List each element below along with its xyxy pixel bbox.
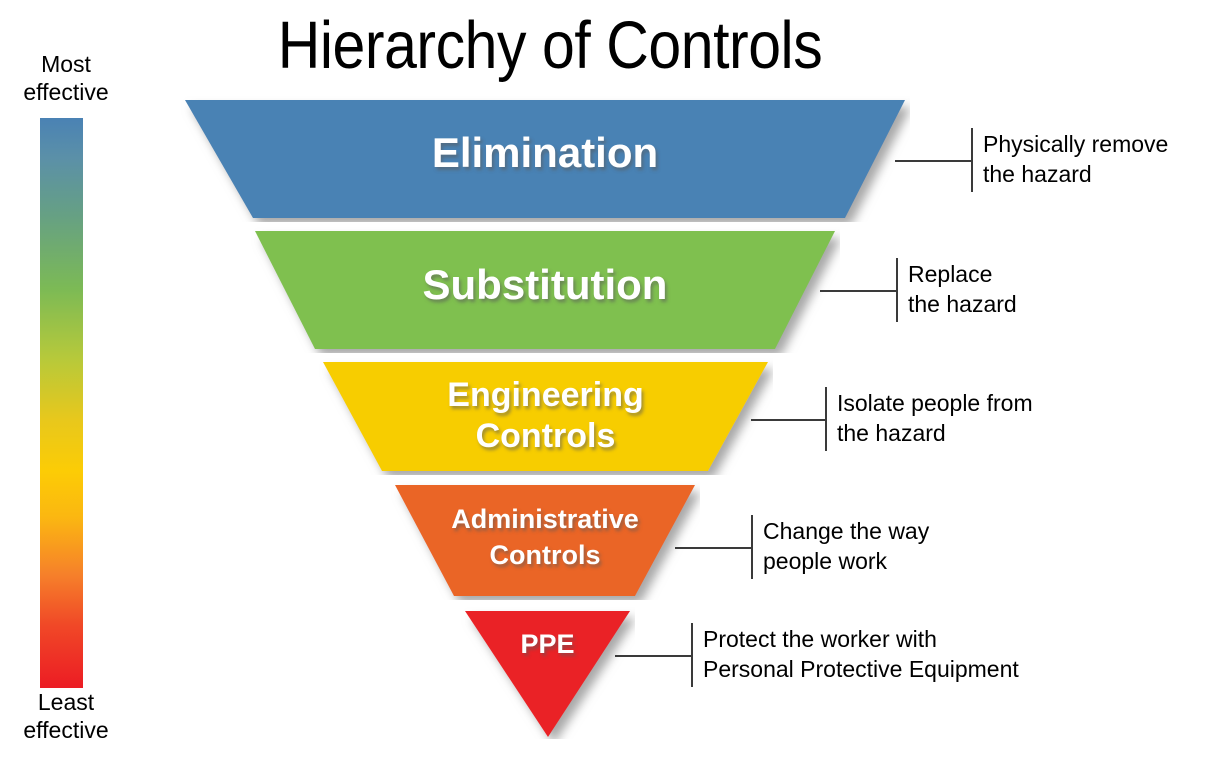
callout-text-engineering-controls-line2: the hazard <box>837 418 1033 448</box>
callout-tick-substitution <box>896 258 898 322</box>
callout-text-engineering-controls: Isolate people from the hazard <box>837 388 1033 448</box>
callout-leader-line-engineering-controls <box>751 419 827 421</box>
callout-leader-line-ppe <box>615 655 693 657</box>
callout-text-engineering-controls-line1: Isolate people from <box>837 388 1033 418</box>
callout-text-elimination: Physically remove the hazard <box>983 129 1168 189</box>
callout-text-substitution-line1: Replace <box>908 259 1017 289</box>
callout-text-administrative-controls-line1: Change the way <box>763 516 929 546</box>
callout-leader-line-substitution <box>820 290 898 292</box>
callout-text-ppe-line2: Personal Protective Equipment <box>703 654 1019 684</box>
elimination-trapezoid-shape <box>180 96 910 222</box>
callout-text-substitution-line2: the hazard <box>908 289 1017 319</box>
callout-tick-elimination <box>971 128 973 192</box>
callout-leader-line-elimination <box>895 160 973 162</box>
engineering-controls-trapezoid-shape <box>318 358 773 475</box>
funnel-level-elimination[interactable]: Elimination <box>180 96 910 222</box>
funnel-level-substitution[interactable]: Substitution <box>250 227 840 353</box>
callout-text-ppe: Protect the worker with Personal Protect… <box>703 624 1019 684</box>
callout-tick-engineering-controls <box>825 387 827 451</box>
funnel-level-administrative-controls[interactable]: Administrative Controls <box>390 481 700 600</box>
substitution-trapezoid-shape <box>250 227 840 353</box>
ppe-triangle-shape <box>460 607 635 739</box>
administrative-controls-trapezoid-shape <box>390 481 700 600</box>
callout-leader-line-administrative-controls <box>675 547 753 549</box>
callout-tick-ppe <box>691 623 693 687</box>
callout-text-substitution: Replace the hazard <box>908 259 1017 319</box>
callout-text-elimination-line2: the hazard <box>983 159 1168 189</box>
callout-text-administrative-controls-line2: people work <box>763 546 929 576</box>
callout-text-administrative-controls: Change the way people work <box>763 516 929 576</box>
callout-tick-administrative-controls <box>751 515 753 579</box>
funnel-level-engineering-controls[interactable]: Engineering Controls <box>318 358 773 475</box>
callout-text-ppe-line1: Protect the worker with <box>703 624 1019 654</box>
callout-text-elimination-line1: Physically remove <box>983 129 1168 159</box>
hierarchy-of-controls-diagram: Hierarchy of Controls Most effective Lea… <box>0 0 1212 780</box>
funnel-level-ppe[interactable]: PPE <box>460 607 635 739</box>
